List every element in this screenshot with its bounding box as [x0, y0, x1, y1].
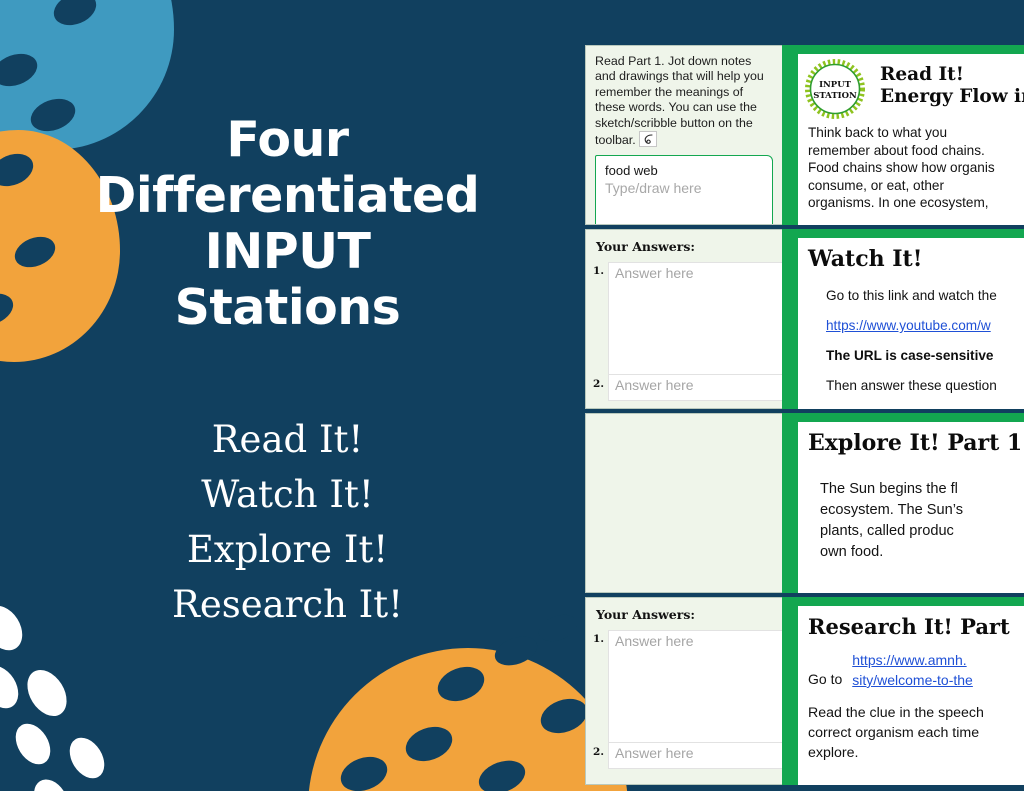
panel2-answers-title: Your Answers:	[586, 230, 782, 254]
panel1-body-line: Food chains show how organis	[808, 159, 1024, 177]
station-watch-it: Watch It!	[53, 467, 523, 522]
answer-row[interactable]: 2. Answer here	[586, 743, 782, 769]
preview-panel-research-it[interactable]: Your Answers: 1. Answer here 2. Answer h…	[585, 597, 1024, 785]
answer-number: 2.	[586, 743, 608, 758]
panel4-url-block[interactable]: https://www.amnh. sity/welcome-to-the	[852, 650, 973, 690]
sketch-scribble-icon[interactable]	[639, 131, 657, 147]
station-list: Read It! Watch It! Explore It! Research …	[53, 412, 523, 632]
panel1-heading: Read It! Energy Flow in a	[880, 62, 1024, 108]
panel3-body-line: ecosystem. The Sun’s	[820, 500, 1024, 521]
panel4-answers-title: Your Answers:	[586, 598, 782, 622]
panel1-note-box[interactable]: food web Type/draw here	[595, 155, 773, 225]
panel2-green-gutter	[782, 229, 789, 409]
input-station-badge: INPUT STATION	[805, 59, 865, 119]
youtube-link[interactable]: https://www.youtube.com/w	[826, 317, 1024, 334]
answer-number: 1.	[586, 630, 608, 645]
panel4-body-line: explore.	[808, 743, 1024, 763]
panel2-body: Go to this link and watch the https://ww…	[808, 287, 1024, 394]
panel4-right-pane: Research It! Part Go to https://www.amnh…	[789, 597, 1024, 785]
title-line-3: INPUT	[53, 224, 523, 280]
panel1-body-line: Think back to what you	[808, 124, 1024, 142]
panel1-body-line: consume, or eat, other	[808, 177, 1024, 195]
answer-input[interactable]: Answer here	[608, 630, 782, 743]
panel3-body-line: own food.	[820, 542, 1024, 563]
panel1-note-placeholder: Type/draw here	[605, 180, 763, 196]
panel4-green-gutter	[782, 597, 789, 785]
panel4-heading: Research It! Part	[808, 614, 1024, 640]
panel3-right-pane: Explore It! Part 1 The Sun begins the fl…	[789, 413, 1024, 593]
amnh-link-line-2[interactable]: sity/welcome-to-the	[852, 670, 973, 690]
panel4-answers-area: 1. Answer here 2. Answer here	[586, 630, 782, 763]
panel1-body: Think back to what you remember about fo…	[808, 124, 1024, 212]
panel3-body-line: The Sun begins the fl	[820, 479, 1024, 500]
panel3-body-line: plants, called produc	[820, 521, 1024, 542]
station-read-it: Read It!	[53, 412, 523, 467]
panel2-answers-area: 1. Answer here 2. Answer here	[586, 262, 782, 395]
panel2-followup-line: Then answer these question	[826, 377, 1024, 394]
panel4-left-pane: Your Answers: 1. Answer here 2. Answer h…	[585, 597, 782, 785]
panel1-heading-line-2: Energy Flow in a	[880, 86, 1024, 108]
answer-row[interactable]: 1. Answer here	[586, 630, 782, 743]
worksheet-preview-column: Read Part 1. Jot down notes and drawings…	[585, 45, 1024, 791]
panel2-heading: Watch It!	[808, 246, 1024, 273]
answer-row[interactable]: 2. Answer here	[586, 375, 782, 401]
panel2-right-pane: Watch It! Go to this link and watch the …	[789, 229, 1024, 409]
panel3-left-pane	[585, 413, 782, 593]
panel4-goto-label: Go to	[808, 650, 842, 690]
panel1-note-term: food web	[605, 163, 763, 178]
panel1-body-line: organisms. In one ecosystem,	[808, 194, 1024, 212]
answer-input[interactable]: Answer here	[608, 743, 782, 769]
panel4-body-line: correct organism each time	[808, 723, 1024, 743]
panel4-goto-block: Go to https://www.amnh. sity/welcome-to-…	[808, 650, 1024, 690]
panel1-instructions-text: Read Part 1. Jot down notes and drawings…	[595, 54, 764, 147]
panel3-green-gutter	[782, 413, 789, 593]
hero-column: Four Differentiated INPUT Stations Read …	[0, 0, 575, 791]
panel4-body-line: Read the clue in the speech	[808, 703, 1024, 723]
answer-number: 1.	[586, 262, 608, 277]
title-line-1: Four	[53, 112, 523, 168]
title-line-4: Stations	[53, 280, 523, 336]
panel1-green-gutter	[782, 45, 789, 225]
answer-input[interactable]: Answer here	[608, 262, 782, 375]
panel4-body: Read the clue in the speech correct orga…	[808, 703, 1024, 763]
preview-panel-read-it[interactable]: Read Part 1. Jot down notes and drawings…	[585, 45, 1024, 225]
answer-number: 2.	[586, 375, 608, 390]
panel1-body-line: remember about food chains.	[808, 142, 1024, 160]
title-line-2: Differentiated	[53, 168, 523, 224]
badge-line-2: STATION	[813, 91, 857, 101]
amnh-link-line-1[interactable]: https://www.amnh.	[852, 650, 973, 670]
panel1-right-pane: INPUT STATION Read It! Energy Flow in a …	[789, 45, 1024, 225]
panel3-heading: Explore It! Part 1	[808, 430, 1024, 457]
answer-row[interactable]: 1. Answer here	[586, 262, 782, 375]
preview-panel-explore-it[interactable]: Explore It! Part 1 The Sun begins the fl…	[585, 413, 1024, 593]
panel1-left-pane: Read Part 1. Jot down notes and drawings…	[585, 45, 782, 225]
panel2-instruction-line: Go to this link and watch the	[826, 287, 1024, 304]
preview-panel-watch-it[interactable]: Your Answers: 1. Answer here 2. Answer h…	[585, 229, 1024, 409]
station-explore-it: Explore It!	[53, 522, 523, 577]
panel2-url-note: The URL is case-sensitive	[826, 347, 1024, 364]
station-research-it: Research It!	[53, 577, 523, 632]
panel2-left-pane: Your Answers: 1. Answer here 2. Answer h…	[585, 229, 782, 409]
panel1-heading-line-1: Read It!	[880, 64, 1024, 86]
page-title: Four Differentiated INPUT Stations	[53, 112, 523, 336]
panel1-instructions-block: Read Part 1. Jot down notes and drawings…	[586, 46, 782, 148]
answer-input[interactable]: Answer here	[608, 375, 782, 401]
panel3-body: The Sun begins the fl ecosystem. The Sun…	[808, 479, 1024, 563]
badge-line-1: INPUT	[819, 80, 852, 90]
